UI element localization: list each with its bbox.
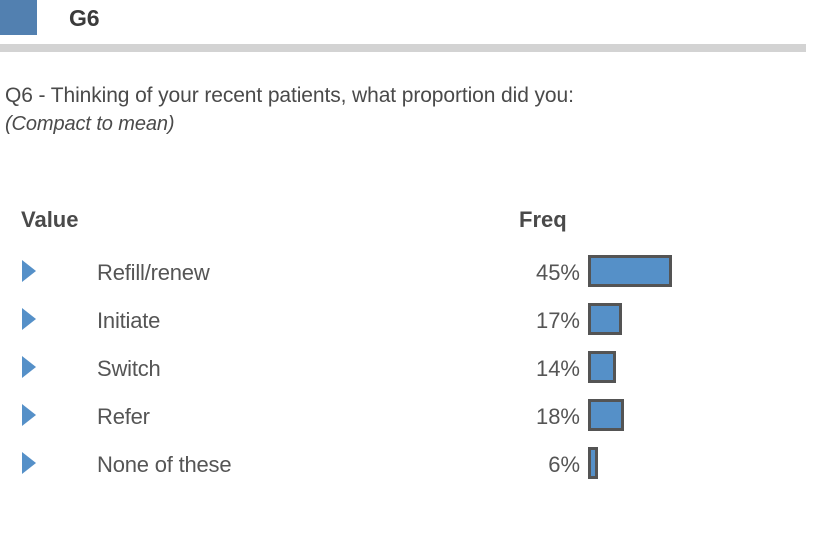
expand-triangle-icon[interactable] <box>22 260 36 282</box>
table-row[interactable]: Initiate 17% <box>0 299 814 347</box>
column-header-freq: Freq <box>519 205 567 235</box>
row-label: Refill/renew <box>97 251 210 295</box>
row-value: 17% <box>430 299 580 343</box>
column-header-value: Value <box>21 205 78 235</box>
question-block: Q6 - Thinking of your recent patients, w… <box>5 82 805 138</box>
question-text: Q6 - Thinking of your recent patients, w… <box>5 82 805 110</box>
expand-triangle-icon[interactable] <box>22 404 36 426</box>
expand-triangle-icon[interactable] <box>22 356 36 378</box>
expand-triangle-icon[interactable] <box>22 308 36 330</box>
row-label: None of these <box>97 443 231 487</box>
row-label: Initiate <box>97 299 160 343</box>
row-value: 45% <box>430 251 580 295</box>
expand-triangle-icon[interactable] <box>22 452 36 474</box>
table-row[interactable]: Switch 14% <box>0 347 814 395</box>
row-bar <box>588 399 624 431</box>
page-header: G6 <box>0 0 814 44</box>
row-value: 14% <box>430 347 580 391</box>
table-body: Refill/renew 45% Initiate 17% Switch 14%… <box>0 251 814 491</box>
table-row[interactable]: None of these 6% <box>0 443 814 491</box>
row-value: 6% <box>430 443 580 487</box>
header-divider <box>0 44 806 52</box>
table-row[interactable]: Refer 18% <box>0 395 814 443</box>
question-subtext: (Compact to mean) <box>5 110 805 138</box>
row-bar <box>588 255 672 287</box>
row-label: Refer <box>97 395 150 439</box>
row-bar <box>588 303 622 335</box>
row-label: Switch <box>97 347 161 391</box>
page-title: G6 <box>69 2 99 34</box>
row-bar <box>588 447 598 479</box>
header-color-swatch <box>0 0 37 35</box>
row-value: 18% <box>430 395 580 439</box>
table-header-row: Value Freq <box>0 205 814 251</box>
table-row[interactable]: Refill/renew 45% <box>0 251 814 299</box>
row-bar <box>588 351 616 383</box>
frequency-table: Value Freq Refill/renew 45% Initiate 17%… <box>0 205 814 491</box>
